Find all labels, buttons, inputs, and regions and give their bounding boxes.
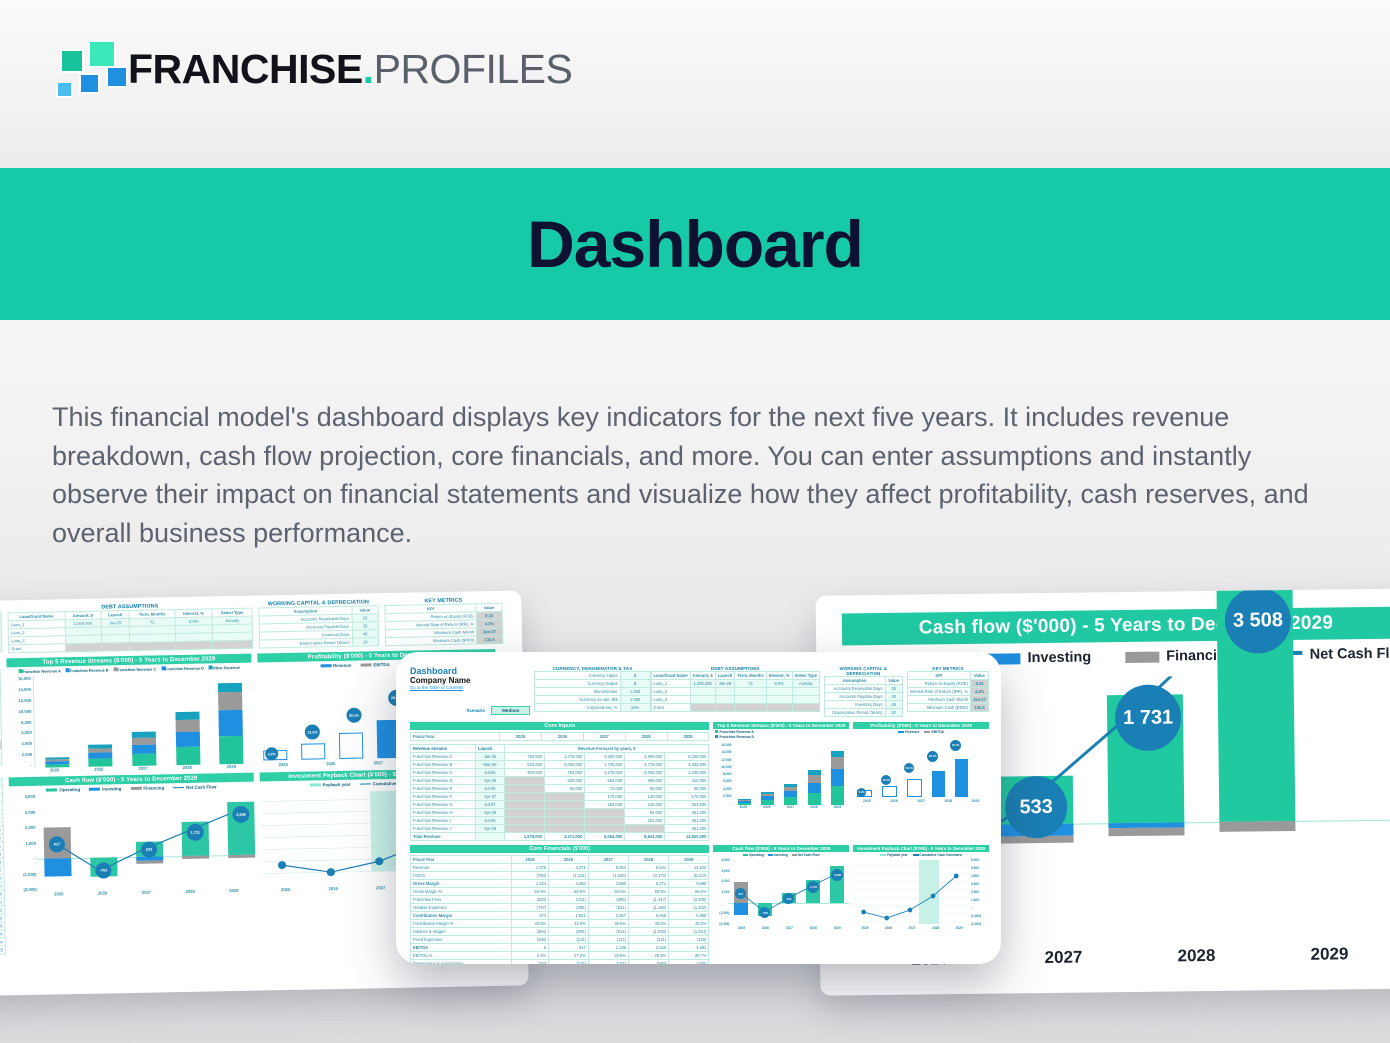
x-tick: 2029 bbox=[1263, 944, 1390, 966]
legend-item: Payback year bbox=[310, 781, 351, 787]
table-row: Return on Equity (ROE)8.33 bbox=[907, 680, 988, 688]
brand-wordmark: FRANCHISE.PROFILES bbox=[128, 49, 572, 90]
page-title: Dashboard bbox=[0, 168, 1390, 320]
top5-title-card: Top 5 Revenue Streams ($'000) - 5 Years … bbox=[713, 722, 849, 729]
payback-title-card: Investment Payback Chart ($'000) - 5 Yea… bbox=[853, 845, 989, 852]
legend-item: Revenue bbox=[320, 662, 351, 668]
table-row: Franchise Revenue IJul-28291,000351,000 bbox=[411, 817, 709, 825]
table-row: Contribution Margin6731,6413,1675,0665,9… bbox=[411, 912, 709, 920]
legend-item: Franchise Revenue B bbox=[66, 667, 109, 673]
legend-item: Other Revenue bbox=[209, 665, 240, 671]
table-row: Loan_11,000,000Jan-25728.0%Annuity bbox=[651, 680, 819, 688]
data-label-bubble: 30.7% bbox=[950, 740, 961, 751]
table-row: Minimum Cash ($'000)130.5 bbox=[907, 704, 988, 712]
legend-item: Investing bbox=[765, 853, 788, 857]
table-row: Currency Output$ bbox=[535, 680, 650, 688]
legend-item: Financing bbox=[130, 785, 164, 791]
legend-item-investing: Investing bbox=[986, 649, 1091, 666]
table-row: Accounts Payable Days25 bbox=[824, 693, 902, 701]
table-row: Loan_2 bbox=[651, 688, 819, 696]
brand-logo[interactable]: FRANCHISE.PROFILES bbox=[50, 40, 572, 98]
core-financials-table: Fiscal Year20252026202720282029 Revenue1… bbox=[410, 855, 709, 964]
table-row: Currency ex rate, $/$1.000 bbox=[535, 696, 650, 704]
x-tick: 2027 bbox=[997, 947, 1130, 969]
table-row: Variable Expenses(737)(390)(621)(1,190)(… bbox=[411, 904, 709, 912]
profitability-title-card: Profitability ($'000) - 5 Years to Decem… bbox=[853, 722, 989, 729]
legend-item: Franchise Revenue D bbox=[715, 735, 753, 739]
table-row: Minimum Cash MonthJan-27 bbox=[907, 696, 988, 704]
scenario-label: Scenario bbox=[467, 708, 486, 713]
table-row: Franchise Revenue EJul-2666,00072,00080,… bbox=[411, 785, 709, 793]
table-row: EBITDA69171,1992,5204,582 bbox=[411, 944, 709, 952]
scenario-select[interactable]: Medium bbox=[491, 706, 530, 715]
table-row: Depreciation Period (Years)10 bbox=[260, 638, 379, 648]
card-company: Company Name bbox=[410, 676, 534, 685]
core-inputs-title: Core Inputs bbox=[410, 722, 709, 730]
table-row: Corporate tax, %15% bbox=[535, 704, 650, 712]
table-row: Internal Rate of Return (IRR), %4.3% bbox=[907, 688, 988, 696]
legend-item: Franchise Revenue A bbox=[715, 730, 753, 734]
table-row: Salaries & Wages(384)(900)(912)(1,030)(1… bbox=[411, 928, 709, 936]
legend-item: Investing bbox=[89, 786, 121, 792]
screenshot-showcase: & TAX $$ 1,0001.00015% DEBT ASSUMPTIONS … bbox=[0, 560, 1390, 1043]
table-row: Franchise Fees(220)(212)(690)(1,447)(2,2… bbox=[411, 896, 709, 904]
table-row: Depreciation Period (Years)10 bbox=[824, 709, 902, 717]
brand-name-light: PROFILES bbox=[374, 46, 573, 92]
table-row: Depreciation & Amortization(20)(110)(107… bbox=[411, 960, 709, 965]
km-table-card: KPIValue Return on Equity (ROE)8.33 Inte… bbox=[907, 671, 989, 712]
legend-item: Net Cash Flow bbox=[789, 853, 820, 857]
table-row: Franchise Revenue DApr-26330,000562,0009… bbox=[411, 777, 709, 785]
legend-item: Operating bbox=[46, 786, 80, 792]
banner: Dashboard bbox=[0, 168, 1390, 320]
table-row: Franchise Revenue GJul-27264,000240,0002… bbox=[411, 801, 709, 809]
x-tick: 2028 bbox=[1130, 945, 1263, 967]
legend-item: EBITDA bbox=[360, 662, 389, 668]
debt-assumptions-table: Loan/Grant NameAmount, $LaunchTerm, Mont… bbox=[7, 608, 253, 654]
legend-item: Cumulative Cash Generated bbox=[913, 853, 962, 857]
legend-item: Franchise Revenue C bbox=[113, 666, 156, 672]
table-row: Inventory Days45 bbox=[824, 701, 902, 709]
table-row: Franchise Revenue HApr-2892,000351,000 bbox=[411, 809, 709, 817]
table-row: Franchise Revenue AJan-25750,0001,275,00… bbox=[411, 753, 709, 761]
card-title: Dashboard bbox=[410, 666, 534, 676]
legend-item: Payback year bbox=[880, 853, 907, 857]
page-header: FRANCHISE.PROFILES bbox=[0, 0, 1390, 168]
table-row: Grant bbox=[651, 704, 819, 712]
table-row: Accounts Receivable Days15 bbox=[824, 685, 902, 693]
legend-item: Operating bbox=[743, 853, 764, 857]
table-row: Denominator1,000 bbox=[535, 688, 650, 696]
table-row: Revenue1,5753,4715,0548,64114,520 bbox=[411, 864, 709, 872]
table-row: Franchise Revenue BMar-25525,0001,050,00… bbox=[411, 761, 709, 769]
legend-item: Franchise Revenue D bbox=[161, 666, 204, 672]
brand-name-bold: FRANCHISE bbox=[128, 46, 363, 92]
table-row: Fixed Expenses(108)(110)(117)(131)(139) bbox=[411, 936, 709, 944]
table-row: Currency Inputs$ bbox=[535, 672, 650, 680]
table-row: Minimum Cash ($'000)130.5 bbox=[386, 635, 503, 645]
wc-table-card: AssumptionValue Accounts Receivable Days… bbox=[824, 676, 903, 717]
wc-title-card: WORKING CAPITAL & DEPRECIATION bbox=[824, 666, 903, 676]
core-inputs-table: Revenue streamsLaunchRevenue Forecast by… bbox=[410, 744, 709, 841]
legend-item: Franchise Revenue A bbox=[18, 668, 61, 674]
legend-item: Revenue bbox=[898, 730, 919, 734]
table-row: Gross Margin1,8243,2563,8806,2719,698 bbox=[411, 880, 709, 888]
description-text: This financial model's dashboard display… bbox=[52, 398, 1342, 552]
table-row: COGS(750)(1,110)(1,640)(3,170)(5,222) bbox=[411, 872, 709, 880]
cashflow-title-card: Cash flow ($'000) - 5 Years to December … bbox=[713, 845, 849, 852]
key-metrics-table: KPIValue Return on Equity (ROE)8.33 Inte… bbox=[384, 603, 503, 646]
brand-dot: . bbox=[363, 46, 374, 92]
table-row: Franchise Revenue CJul-25300,000750,0001… bbox=[411, 769, 709, 777]
table-row: Total Revenue1,575,0003,471,0005,054,000… bbox=[411, 833, 709, 841]
table-row: Gross Margin %60.0%60.0%60.0%60.0%65.0% bbox=[411, 888, 709, 896]
table-row: Franchise Revenue FApr-27170,000140,0001… bbox=[411, 793, 709, 801]
toc-link[interactable]: Go to the Table of Contents bbox=[410, 685, 534, 690]
table-row: EBITDA %0.4%27.2%20.9%29.3%30.7% bbox=[411, 952, 709, 960]
logo-squares-icon bbox=[50, 40, 112, 98]
legend-item: EBITDA bbox=[924, 730, 944, 734]
table-row: Contribution Margin %40.0%43.0%36.0%40.0… bbox=[411, 920, 709, 928]
table-row: Franchise Revenue JApr-29351,000 bbox=[411, 825, 709, 833]
currency-table: Currency Inputs$ Currency Output$ Denomi… bbox=[534, 671, 650, 712]
working-capital-table: AssumptionValue Accounts Receivable Days… bbox=[258, 605, 379, 648]
debt-table-card: Loan/Grant NameAmount, $LaunchTerm, Mont… bbox=[651, 671, 820, 712]
legend-item: Net Cash Flow bbox=[173, 784, 216, 790]
core-financials-title: Core Financials ($'000) bbox=[410, 845, 709, 853]
dashboard-card-front[interactable]: Dashboard Company Name Go to the Table o… bbox=[396, 652, 1001, 964]
core-inputs-years: Fiscal Year20252026202720282029 bbox=[410, 732, 709, 741]
table-row: Loan_3 bbox=[651, 696, 819, 704]
